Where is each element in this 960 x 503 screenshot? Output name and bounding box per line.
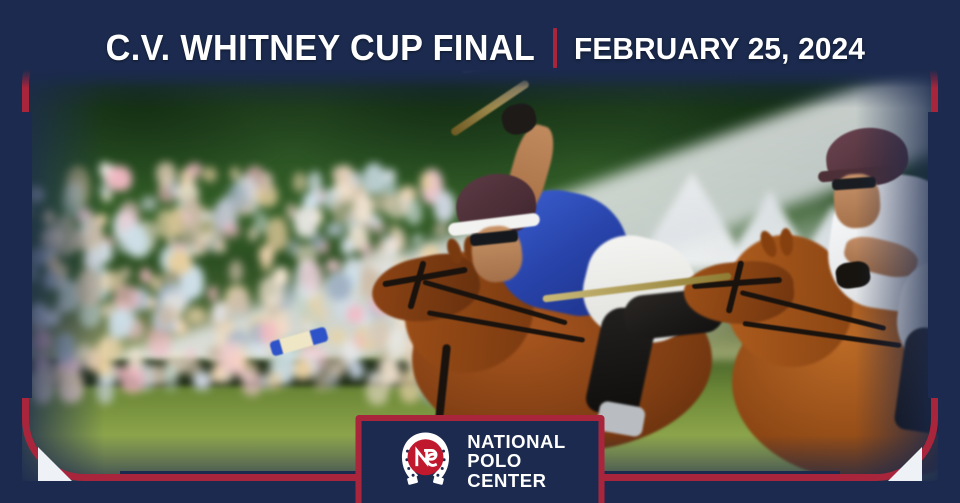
logo-line-2: POLO xyxy=(467,451,566,470)
corner-triangle-bottom-right-icon xyxy=(888,447,922,481)
corner-triangle-bottom-left-icon xyxy=(38,447,72,481)
bottom-rail-left xyxy=(92,474,356,481)
logo-line-1: NATIONAL xyxy=(467,432,566,451)
corner-triangle-top-left-icon xyxy=(38,22,72,56)
corner-triangle-top-right-icon xyxy=(888,22,922,56)
horseshoe-npc-badge-icon xyxy=(394,430,456,492)
logo-line-3: CENTER xyxy=(467,471,566,490)
photo-edge-vignette xyxy=(22,22,938,481)
national-polo-center-logo[interactable]: NATIONAL POLO CENTER xyxy=(356,415,605,503)
poster-canvas: C.V. WHITNEY CUP FINAL FEBRUARY 25, 2024 xyxy=(0,0,960,503)
match-photograph xyxy=(22,22,938,481)
outer-band-left xyxy=(0,0,14,503)
outer-band-top xyxy=(0,0,960,14)
outer-band-right xyxy=(946,0,960,503)
bottom-rail-right xyxy=(604,474,868,481)
logo-wordmark: NATIONAL POLO CENTER xyxy=(467,432,566,489)
